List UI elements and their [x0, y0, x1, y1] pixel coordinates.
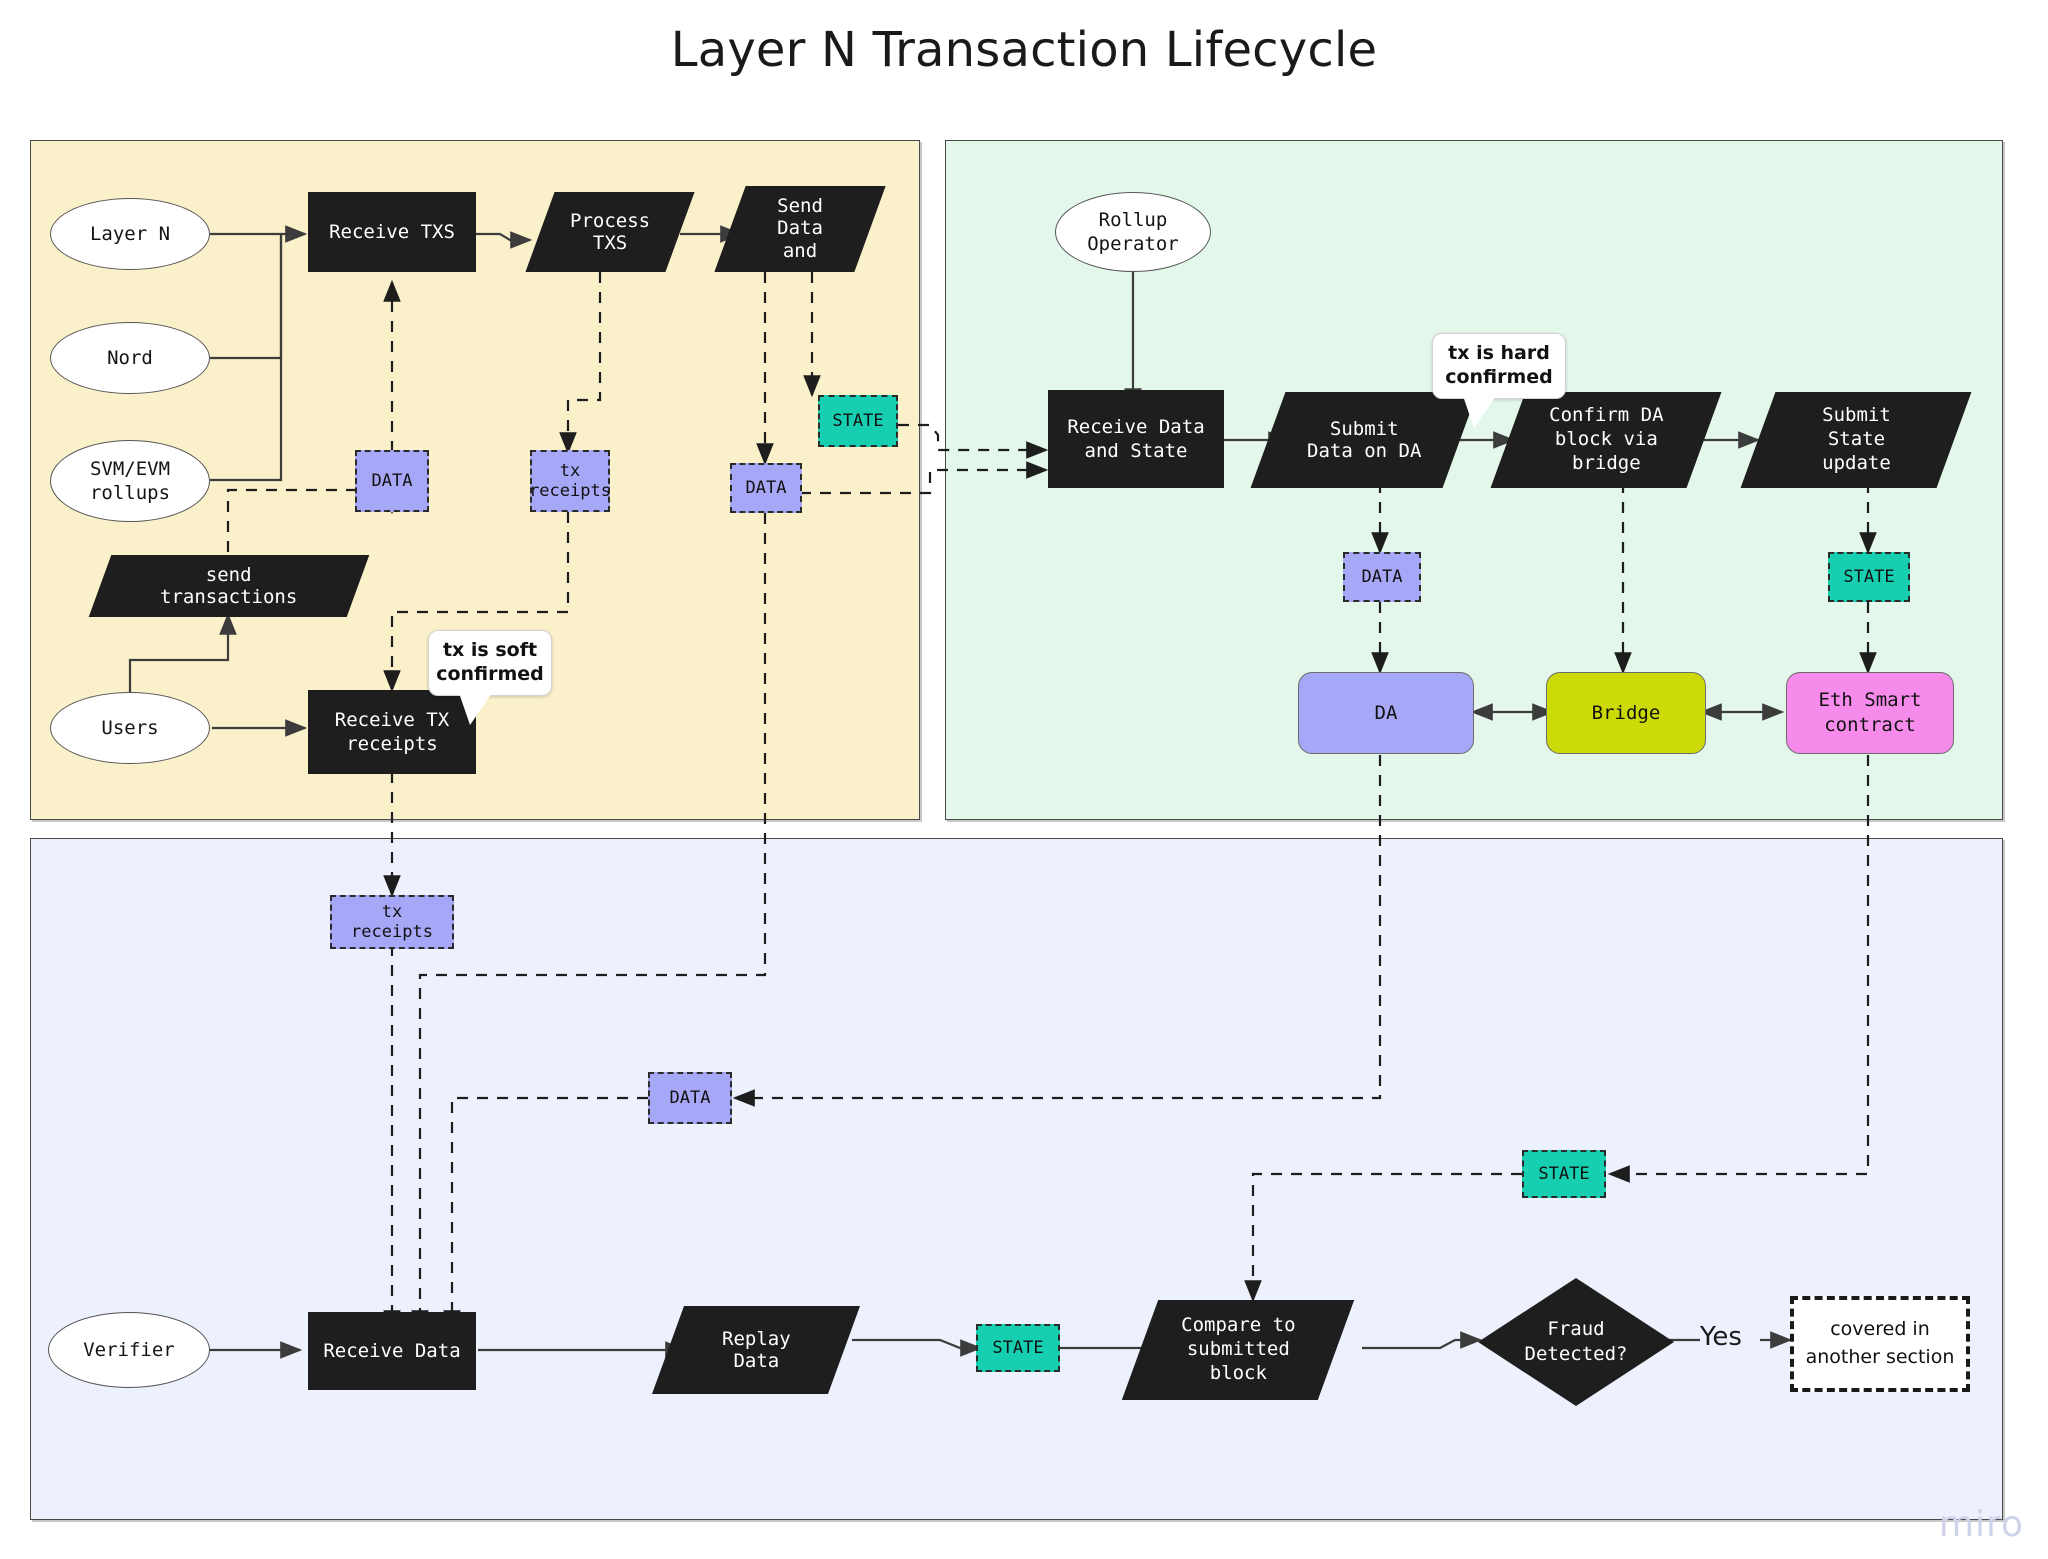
tag-state-verifier-mid-label: STATE: [992, 1338, 1043, 1358]
node-submit-state-update[interactable]: Submit State update: [1758, 392, 1954, 488]
tag-state-verifier-mid: STATE: [976, 1324, 1060, 1372]
actor-verifier[interactable]: Verifier: [48, 1312, 210, 1388]
node-process-txs[interactable]: Process TXS: [540, 192, 680, 272]
edge-label-yes-text: Yes: [1700, 1322, 1742, 1352]
tag-state-verifier-right-label: STATE: [1538, 1164, 1589, 1184]
node-submit-state-update-label: Submit State update: [1822, 404, 1891, 475]
store-eth-smart-contract-label: Eth Smart contract: [1819, 688, 1922, 737]
tag-state-rollup: STATE: [1828, 552, 1910, 602]
actor-rollup-operator-label: Rollup Operator: [1087, 208, 1179, 257]
node-receive-txs-label: Receive TXS: [329, 220, 455, 244]
page-title: Layer N Transaction Lifecycle: [0, 22, 2048, 78]
node-receive-tx-receipts[interactable]: Receive TX receipts: [308, 690, 476, 774]
node-send-data-and[interactable]: Send Data and: [730, 186, 870, 272]
callout-tx-hard-confirmed: tx is hard confirmed: [1432, 333, 1566, 399]
actor-nord-label: Nord: [107, 346, 153, 370]
tag-data-seq-1-label: DATA: [372, 471, 413, 491]
actor-svm-evm-rollups[interactable]: SVM/EVM rollups: [50, 440, 210, 522]
node-receive-txs[interactable]: Receive TXS: [308, 192, 476, 272]
node-fraud-detected-label: Fraud Detected?: [1525, 1317, 1628, 1366]
tag-tx-receipts-verifier-label: tx receipts: [351, 902, 433, 943]
actor-nord[interactable]: Nord: [50, 322, 210, 394]
callout-tx-hard-confirmed-label: tx is hard confirmed: [1445, 342, 1553, 390]
node-replay-data-label: Replay Data: [722, 1328, 791, 1372]
callout-tx-soft-confirmed: tx is soft confirmed: [428, 630, 552, 696]
tag-state-seq-label: STATE: [832, 411, 883, 431]
actor-layer-n[interactable]: Layer N: [50, 198, 210, 270]
store-da[interactable]: DA: [1298, 672, 1474, 754]
node-receive-data[interactable]: Receive Data: [308, 1312, 476, 1390]
actor-users[interactable]: Users: [50, 692, 210, 764]
node-confirm-da-block-via-bridge-label: Confirm DA block via bridge: [1549, 404, 1663, 475]
actor-rollup-operator[interactable]: Rollup Operator: [1055, 192, 1211, 272]
lane-verifier: [30, 838, 2003, 1520]
tag-state-rollup-label: STATE: [1843, 567, 1894, 587]
actor-users-label: Users: [101, 716, 158, 740]
edge-label-yes: Yes: [1700, 1322, 1742, 1352]
diagram-canvas: Layer N Transaction Lifecycle: [0, 0, 2048, 1559]
node-receive-data-and-state[interactable]: Receive Data and State: [1048, 390, 1224, 488]
store-bridge[interactable]: Bridge: [1546, 672, 1706, 754]
store-bridge-label: Bridge: [1592, 701, 1661, 726]
callout-tx-soft-confirmed-label: tx is soft confirmed: [436, 639, 544, 687]
node-compare-to-submitted-block[interactable]: Compare to submitted block: [1140, 1300, 1336, 1400]
tag-data-verifier-label: DATA: [670, 1088, 711, 1108]
node-replay-data[interactable]: Replay Data: [668, 1306, 844, 1394]
actor-verifier-label: Verifier: [83, 1338, 175, 1362]
store-da-label: DA: [1375, 701, 1398, 726]
node-receive-data-label: Receive Data: [323, 1339, 460, 1363]
node-submit-data-on-da-label: Submit Data on DA: [1307, 418, 1421, 462]
node-receive-tx-receipts-label: Receive TX receipts: [335, 708, 449, 757]
store-eth-smart-contract[interactable]: Eth Smart contract: [1786, 672, 1954, 754]
node-send-transactions[interactable]: send transactions: [100, 555, 358, 617]
tag-data-verifier: DATA: [648, 1072, 732, 1124]
tag-tx-receipts-seq-label: tx receipts: [529, 461, 611, 502]
actor-layer-n-label: Layer N: [90, 222, 170, 246]
tag-data-seq-2-label: DATA: [746, 478, 787, 498]
tag-data-seq-2: DATA: [730, 463, 802, 513]
node-send-transactions-label: send transactions: [160, 564, 297, 608]
tag-data-rollup: DATA: [1343, 552, 1421, 602]
node-compare-to-submitted-block-label: Compare to submitted block: [1181, 1314, 1295, 1385]
node-fraud-detected[interactable]: Fraud Detected?: [1478, 1278, 1674, 1406]
node-receive-data-and-state-label: Receive Data and State: [1067, 415, 1204, 464]
tag-state-verifier-right: STATE: [1522, 1150, 1606, 1198]
node-process-txs-label: Process TXS: [570, 210, 650, 254]
tag-data-rollup-label: DATA: [1362, 567, 1403, 587]
tag-data-seq-1: DATA: [355, 450, 429, 512]
terminal-covered-in-another-section[interactable]: covered in another section: [1790, 1296, 1970, 1392]
node-send-data-and-label: Send Data and: [777, 195, 823, 262]
miro-watermark: miro: [1939, 1504, 2024, 1545]
terminal-covered-in-another-section-label: covered in another section: [1804, 1316, 1956, 1371]
tag-tx-receipts-seq: tx receipts: [530, 450, 610, 512]
tag-tx-receipts-verifier: tx receipts: [330, 895, 454, 949]
tag-state-seq: STATE: [818, 395, 898, 447]
node-submit-data-on-da[interactable]: Submit Data on DA: [1268, 392, 1460, 488]
node-confirm-da-block-via-bridge[interactable]: Confirm DA block via bridge: [1508, 392, 1704, 488]
actor-svm-evm-rollups-label: SVM/EVM rollups: [90, 457, 170, 506]
